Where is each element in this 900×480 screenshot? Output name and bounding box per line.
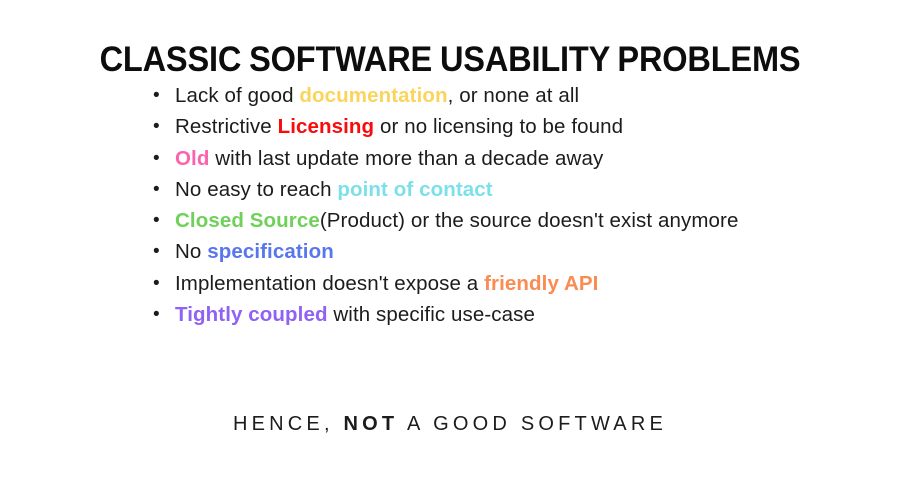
- footer-text: A GOOD SOFTWARE: [398, 413, 667, 435]
- bullet-text: No easy to reach: [175, 178, 337, 201]
- highlighted-term: specification: [207, 240, 334, 263]
- list-item: Old with last update more than a decade …: [150, 143, 850, 174]
- highlighted-term: Licensing: [278, 115, 375, 138]
- bullet-text: or no licensing to be found: [374, 115, 623, 138]
- bullet-text: No: [175, 240, 207, 263]
- bullet-text: , or none at all: [448, 84, 580, 107]
- highlighted-term: Closed Source: [175, 209, 320, 232]
- list-item: Restrictive Licensing or no licensing to…: [150, 111, 850, 142]
- bullet-text: Lack of good: [175, 84, 299, 107]
- footer-emphasis: NOT: [343, 413, 398, 435]
- bullet-text: with last update more than a decade away: [209, 147, 603, 170]
- list-item: Lack of good documentation, or none at a…: [150, 80, 850, 111]
- bullet-text: with specific use-case: [328, 303, 535, 326]
- slide-canvas: CLASSIC SOFTWARE USABILITY PROBLEMS Lack…: [0, 0, 900, 480]
- bullet-text: Restrictive: [175, 115, 278, 138]
- highlighted-term: documentation: [299, 84, 447, 107]
- highlighted-term: friendly API: [484, 272, 598, 295]
- list-item: Tightly coupled with specific use-case: [150, 299, 850, 330]
- highlighted-term: point of contact: [337, 178, 492, 201]
- bullet-text: Implementation doesn't expose a: [175, 272, 484, 295]
- footer-text: HENCE,: [233, 413, 344, 435]
- bullet-text: (Product) or the source doesn't exist an…: [320, 209, 739, 232]
- slide-footer-conclusion: HENCE, NOT A GOOD SOFTWARE: [0, 408, 900, 440]
- list-item: No easy to reach point of contact: [150, 174, 850, 205]
- page-title: CLASSIC SOFTWARE USABILITY PROBLEMS: [32, 41, 869, 80]
- list-item: No specification: [150, 236, 850, 267]
- list-item: Implementation doesn't expose a friendly…: [150, 268, 850, 299]
- list-item: Closed Source(Product) or the source doe…: [150, 205, 850, 236]
- highlighted-term: Old: [175, 147, 209, 170]
- highlighted-term: Tightly coupled: [175, 303, 328, 326]
- usability-problems-list: Lack of good documentation, or none at a…: [150, 80, 850, 330]
